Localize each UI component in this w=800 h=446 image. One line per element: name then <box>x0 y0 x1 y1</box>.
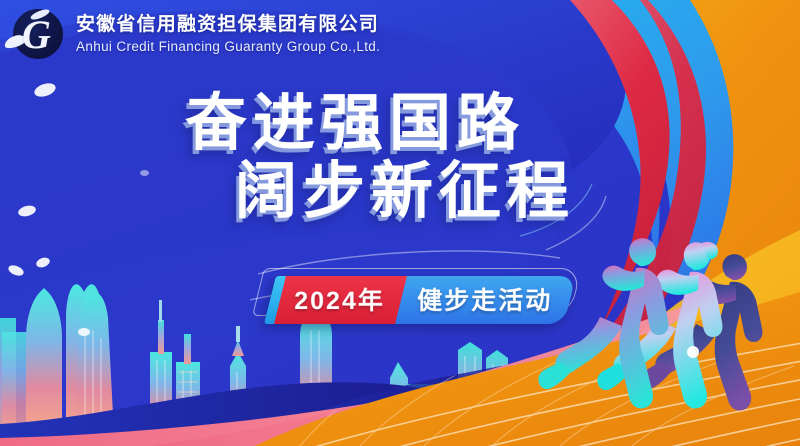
brand-text-block: 安徽省信用融资担保集团有限公司 Anhui Credit Financing G… <box>76 14 380 55</box>
runner-silhouettes <box>538 238 762 410</box>
dot <box>7 263 25 277</box>
company-name-en: Anhui Credit Financing Guaranty Group Co… <box>76 38 380 56</box>
dot <box>78 328 90 336</box>
dot <box>35 256 51 269</box>
subtitle-banner: 2024年 健步走活动 <box>264 276 576 324</box>
subtitle-event-block: 健步走活动 <box>395 276 576 324</box>
headline-line-2: 阔步新征程 <box>110 160 700 224</box>
runner-3 <box>641 254 762 410</box>
logo-letter: G <box>22 15 51 55</box>
company-logo[interactable]: G <box>8 6 66 64</box>
company-name-cn: 安徽省信用融资担保集团有限公司 <box>76 14 380 36</box>
page-title: 奋进强国路 阔步新征程 <box>0 92 700 224</box>
subtitle-year: 2024年 <box>294 281 385 317</box>
subtitle-year-block: 2024年 <box>274 276 407 324</box>
promotional-banner: G 安徽省信用融资担保集团有限公司 Anhui Credit Financing… <box>0 0 800 446</box>
masthead: G 安徽省信用融资担保集团有限公司 Anhui Credit Financing… <box>8 6 380 64</box>
runner-2 <box>597 242 722 408</box>
headline-line-1: 奋进强国路 <box>10 92 700 156</box>
subtitle-event: 健步走活动 <box>417 281 552 317</box>
running-track-lanes <box>240 336 800 446</box>
